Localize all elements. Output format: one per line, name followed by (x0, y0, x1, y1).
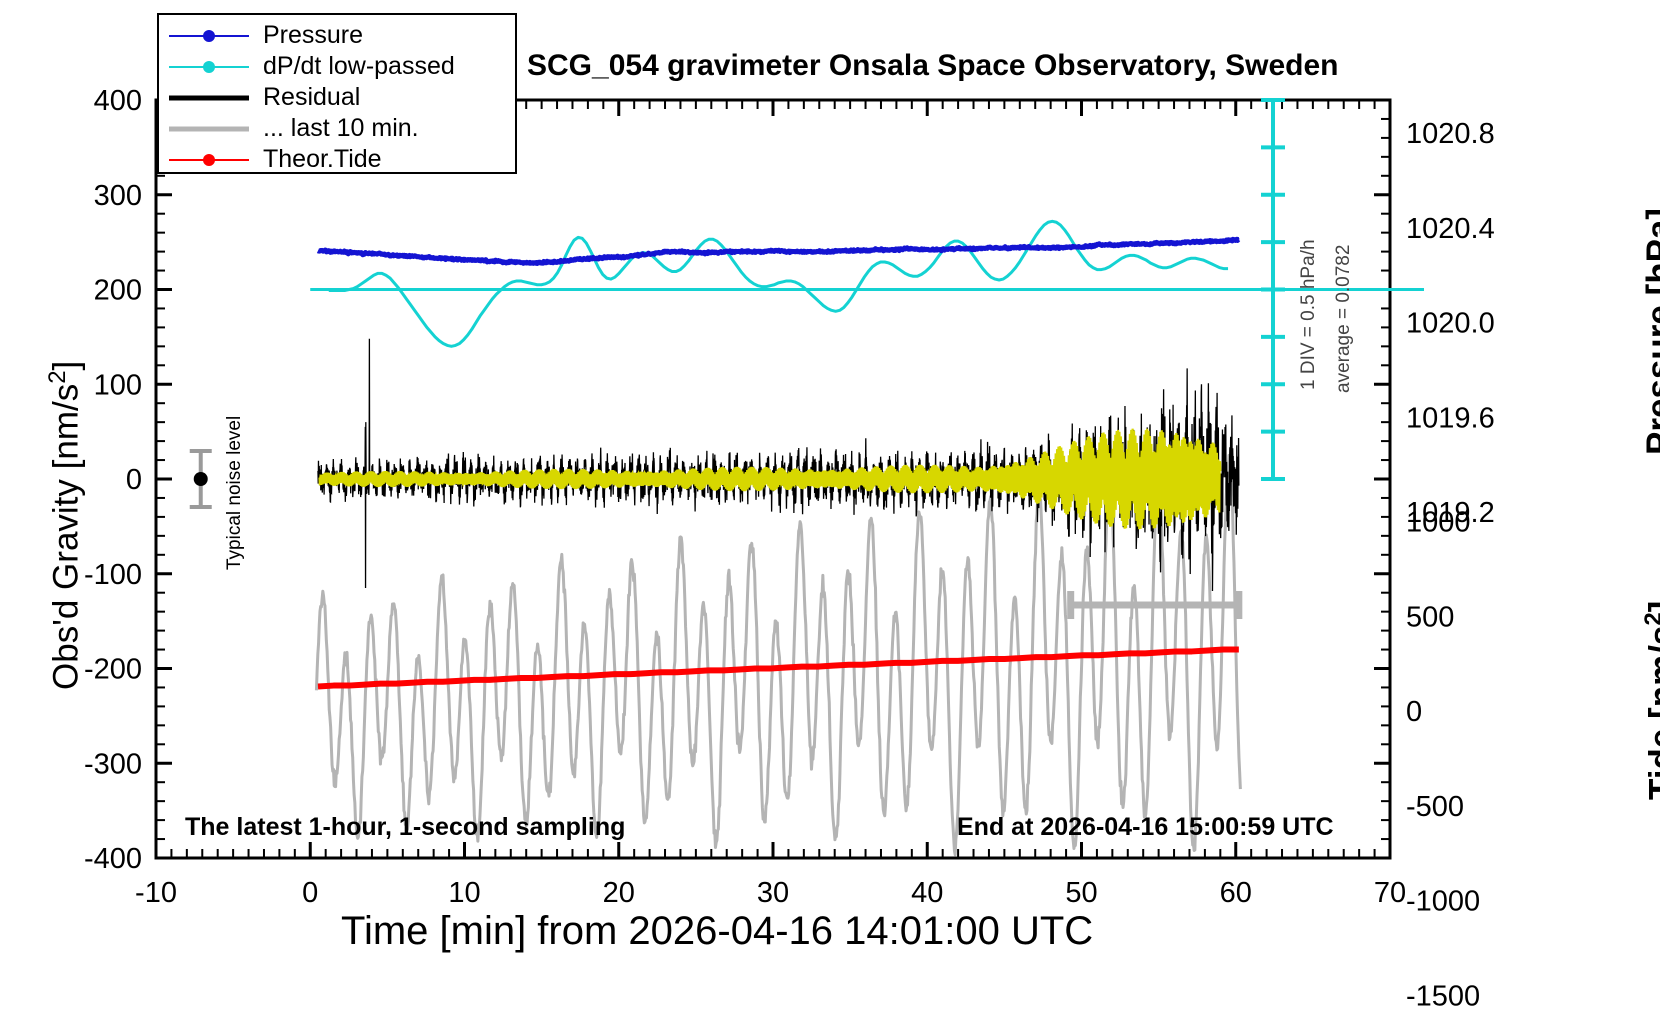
typical-noise-level-marker (190, 451, 212, 507)
y-tick-label: 300 (94, 180, 142, 212)
x-axis-title: Time [min] from 2026-04-16 14:01:00 UTC (341, 909, 1093, 954)
y-tick-label: 200 (94, 275, 142, 307)
y3-axis-title-text: Tide [nm/s (1643, 626, 1660, 800)
average-note: average = 0.0782 (1333, 393, 1481, 415)
y2-axis-title-text: Pressure [hPa] (1640, 208, 1660, 455)
y3-tick-label: -1000 (1406, 886, 1480, 918)
y-tick-label: 0 (126, 464, 142, 496)
legend-swatch-pressure (167, 24, 251, 48)
y3-axis-title: Tide [nm/s2] (1640, 800, 1660, 843)
noise-level-note: Typical noise level (224, 570, 378, 592)
legend-item-tide[interactable]: Theor.Tide (167, 144, 515, 175)
x-tick-label: -10 (135, 877, 177, 909)
legend-item-residual[interactable]: Residual (167, 82, 515, 113)
dpdt-trace (329, 221, 1228, 346)
y2-tick-label: 1020.4 (1406, 213, 1495, 245)
y-axis-title-sup: 2 (44, 370, 71, 383)
y2-axis-ticks: 1020.81020.41020.01019.61019.210005000-5… (1374, 100, 1495, 1012)
chart-title: SCG_054 gravimeter Onsala Space Observat… (527, 49, 1339, 83)
legend-item-dpdt[interactable]: dP/dt low-passed (167, 51, 515, 82)
x-tick-label: 60 (1220, 877, 1252, 909)
y-axis-title-tail: ] (47, 361, 86, 371)
legend-label-pressure: Pressure (251, 21, 363, 50)
y-axis-title-text: Obs'd Gravity [nm/s (47, 384, 86, 690)
y-axis-title: Obs'd Gravity [nm/s2] (44, 690, 373, 733)
y2-axis-title: Pressure [hPa] (1640, 455, 1660, 495)
y3-tick-label: -1500 (1406, 980, 1480, 1012)
x-tick-label: 40 (911, 877, 943, 909)
x-tick-label: 30 (757, 877, 789, 909)
y2-tick-label: 1020.0 (1406, 308, 1495, 340)
y-tick-label: -200 (84, 654, 142, 686)
x-tick-label: 20 (603, 877, 635, 909)
y-tick-label: -100 (84, 559, 142, 591)
y3-axis-title-sup: 2 (1640, 612, 1660, 625)
y3-axis-title-tail: ] (1643, 601, 1660, 613)
legend-label-last10: ... last 10 min. (251, 114, 419, 143)
legend-swatch-residual (167, 86, 251, 110)
y3-tick-label: -500 (1406, 791, 1464, 823)
legend-label-dpdt: dP/dt low-passed (251, 52, 455, 81)
y-tick-label: 100 (94, 369, 142, 401)
legend-item-last10[interactable]: ... last 10 min. (167, 113, 515, 144)
dpdt-scale-bar (1261, 100, 1285, 479)
legend-item-pressure[interactable]: Pressure (167, 20, 515, 51)
latest-sampling-note: The latest 1-hour, 1-second sampling (185, 813, 625, 842)
legend-swatch-tide (167, 148, 251, 172)
last10-window-marker (1071, 591, 1239, 619)
legend: Pressure dP/dt low-passed Residual . (157, 13, 517, 174)
y-tick-label: -400 (84, 843, 142, 875)
x-tick-label: 0 (302, 877, 318, 909)
x-tick-label: 10 (448, 877, 480, 909)
legend-swatch-last10 (167, 117, 251, 141)
legend-swatch-dpdt (167, 55, 251, 79)
y3-tick-label: 0 (1406, 696, 1422, 728)
end-time-note: End at 2026-04-16 15:00:59 UTC (957, 813, 1334, 842)
y-tick-label: -300 (84, 748, 142, 780)
x-tick-label: 70 (1374, 877, 1406, 909)
y2-tick-label: 1020.8 (1406, 118, 1495, 150)
legend-label-tide: Theor.Tide (251, 145, 382, 174)
y3-tick-label: 1000 (1406, 507, 1471, 539)
y3-tick-label: 500 (1406, 601, 1454, 633)
y-axis-ticks: 4003002001000-100-200-300-400 (84, 85, 172, 875)
pressure-trace (318, 239, 1239, 263)
y-tick-label: 400 (94, 85, 142, 117)
x-tick-label: 50 (1065, 877, 1097, 909)
legend-label-residual: Residual (251, 83, 360, 112)
